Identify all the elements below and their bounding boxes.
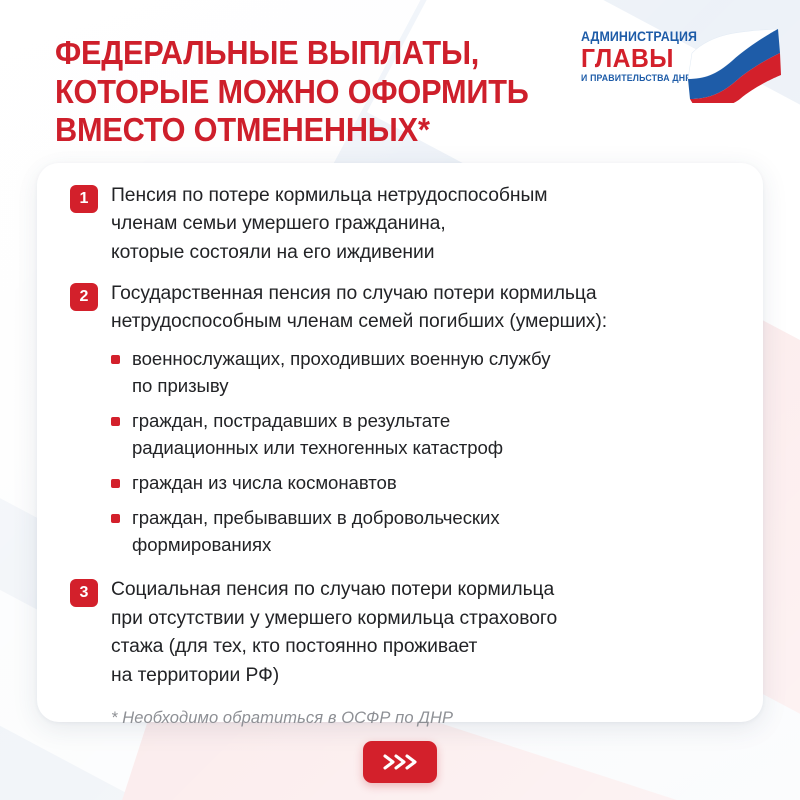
list-item-2: 2 Государственная пенсия по случаю потер… [70, 280, 733, 337]
sub-list-item: граждан из числа космонавтов [111, 470, 733, 497]
footnote: * Необходимо обратиться в ОСФР по ДНР [111, 709, 733, 728]
item-text-3: Социальная пенсия по случаю потери корми… [111, 576, 557, 689]
organization-logo: АДМИНИСТРАЦИЯ ГЛАВЫ И ПРАВИТЕЛЬСТВА ДНР [567, 25, 782, 105]
triple-chevron-right-icon [380, 752, 420, 772]
item-number-badge-2: 2 [70, 283, 98, 311]
item-number-badge-3: 3 [70, 579, 98, 607]
square-bullet-icon [111, 479, 120, 488]
item-text-2: Государственная пенсия по случаю потери … [111, 280, 607, 337]
list-item-1: 1 Пенсия по потере кормильца нетрудоспос… [70, 182, 733, 267]
logo-line-administration: АДМИНИСТРАЦИЯ [581, 30, 701, 44]
sub-list-item: граждан, пострадавших в результате радиа… [111, 408, 733, 462]
sub-list-item: граждан, пребывавших в добровольческих ф… [111, 505, 733, 559]
item-text-1: Пенсия по потере кормильца нетрудоспособ… [111, 182, 547, 267]
square-bullet-icon [111, 417, 120, 426]
square-bullet-icon [111, 355, 120, 364]
item-number-badge-1: 1 [70, 185, 98, 213]
sub-item-text: граждан из числа космонавтов [132, 470, 397, 497]
sub-list-item-2: военнослужащих, проходивших военную служ… [111, 346, 733, 559]
content-card: 1 Пенсия по потере кормильца нетрудоспос… [37, 163, 763, 722]
russian-flag-wave-icon [686, 27, 782, 103]
list-item-3: 3 Социальная пенсия по случаю потери кор… [70, 576, 733, 689]
next-slide-button[interactable] [363, 741, 437, 783]
spacer [70, 267, 733, 280]
poster-root: ФЕДЕРАЛЬНЫЕ ВЫПЛАТЫ, КОТОРЫЕ МОЖНО ОФОРМ… [0, 0, 800, 800]
header: ФЕДЕРАЛЬНЫЕ ВЫПЛАТЫ, КОТОРЫЕ МОЖНО ОФОРМ… [0, 0, 800, 163]
sub-list-item: военнослужащих, проходивших военную служ… [111, 346, 733, 400]
spacer [70, 558, 733, 576]
sub-item-text: военнослужащих, проходивших военную служ… [132, 346, 550, 400]
sub-item-text: граждан, пострадавших в результате радиа… [132, 408, 503, 462]
page-title: ФЕДЕРАЛЬНЫЕ ВЫПЛАТЫ, КОТОРЫЕ МОЖНО ОФОРМ… [55, 34, 529, 150]
logo-line-government: И ПРАВИТЕЛЬСТВА ДНР [581, 74, 701, 84]
square-bullet-icon [111, 514, 120, 523]
sub-item-text: граждан, пребывавших в добровольческих ф… [132, 505, 500, 559]
